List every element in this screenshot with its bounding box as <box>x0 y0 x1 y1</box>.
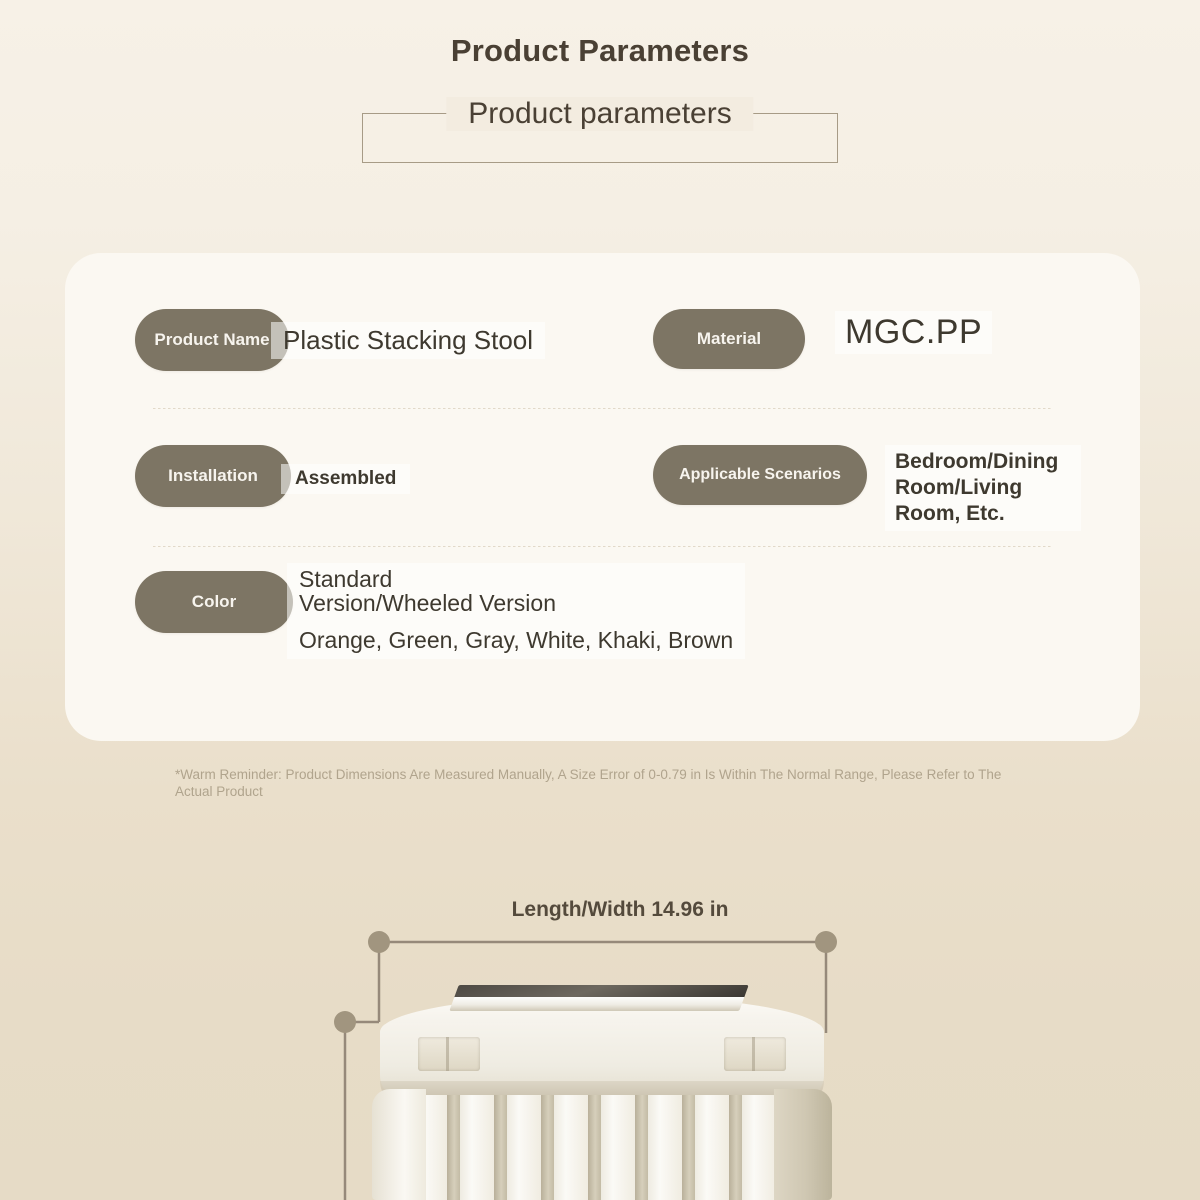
dimension-diagram <box>0 0 1200 1200</box>
dimension-dot-left-height <box>334 1011 356 1033</box>
dimension-dot-top-left <box>368 931 390 953</box>
dimension-dot-top-right <box>815 931 837 953</box>
